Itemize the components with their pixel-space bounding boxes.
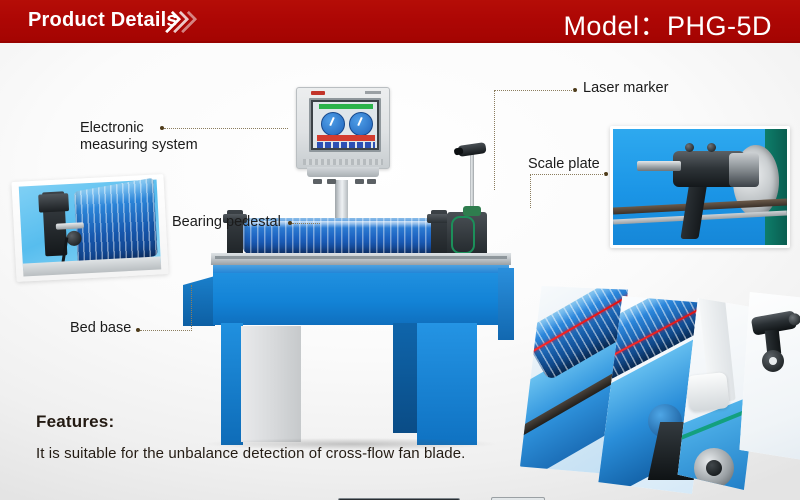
unit-keypad [303, 159, 383, 165]
bench-rail [215, 256, 507, 259]
features-title: Features: [36, 412, 114, 432]
double-chevron-right-icon [163, 10, 203, 32]
gauge-right-icon [349, 112, 373, 136]
balancing-machine-photo: 上海创平动平衡机制造有限公司 Shanghai Chuangping Dynam… [175, 60, 545, 410]
leader-line-laser-marker-v [494, 90, 495, 190]
page-header: Product Details Model：PHG-5D [0, 0, 800, 43]
bench-top-surface [211, 253, 511, 265]
collage-blue-bar [498, 268, 514, 340]
unit-brand-logo [311, 91, 325, 95]
inset-photo-collage [498, 268, 800, 500]
unit-model-text [365, 91, 381, 94]
scale-plate-hub [729, 153, 759, 187]
cabinet-front: 上海创平动平衡机制造有限公司 Shanghai Chuangping Dynam… [213, 273, 509, 325]
inset-photo-scale-plate [610, 126, 790, 248]
leader-line-laser-marker-h [494, 90, 574, 91]
leader-line-ems [164, 128, 288, 129]
callout-label-laser-marker: Laser marker [583, 80, 668, 96]
product-details-page: Product Details Model：PHG-5D [0, 0, 800, 500]
measurement-display-screen [309, 98, 381, 152]
electronic-measuring-unit [296, 87, 390, 169]
inset-photo-bearing-pedestal [11, 174, 168, 282]
laser-marker-head [457, 142, 486, 157]
callout-label-electronic-measuring-system: Electronic measuring system [80, 120, 220, 154]
fan-blade-closeup [74, 178, 157, 270]
features-text: It is suitable for the unbalance detecti… [36, 445, 465, 462]
bed-base-left-leg [221, 323, 303, 445]
callout-label-bed-base: Bed base [70, 320, 131, 336]
cabinet-left-face [183, 276, 215, 326]
callout-label-scale-plate: Scale plate [528, 156, 600, 172]
drive-belt [451, 216, 475, 254]
chuck-assembly [694, 448, 734, 488]
gauge-left-icon [321, 112, 345, 136]
leader-line-bed-base-v [191, 285, 192, 331]
unit-foot [307, 167, 379, 177]
page-title: Product Details [28, 9, 178, 32]
leader-line-bed-base-h [140, 330, 192, 331]
sensor-device [686, 372, 730, 412]
bed-base-right-leg [393, 323, 477, 445]
callout-label-bearing-pedestal: Bearing pedestal [172, 214, 281, 230]
bearing-pedestal-right [431, 210, 447, 258]
leader-line-bearing-pedestal [292, 223, 320, 224]
leader-line-scale-plate-v [530, 174, 531, 208]
scale-plate-shaft [637, 161, 681, 171]
leader-line-scale-plate-h [530, 174, 605, 175]
model-label: Model：PHG-5D [563, 4, 772, 43]
drive-cover [463, 206, 481, 216]
